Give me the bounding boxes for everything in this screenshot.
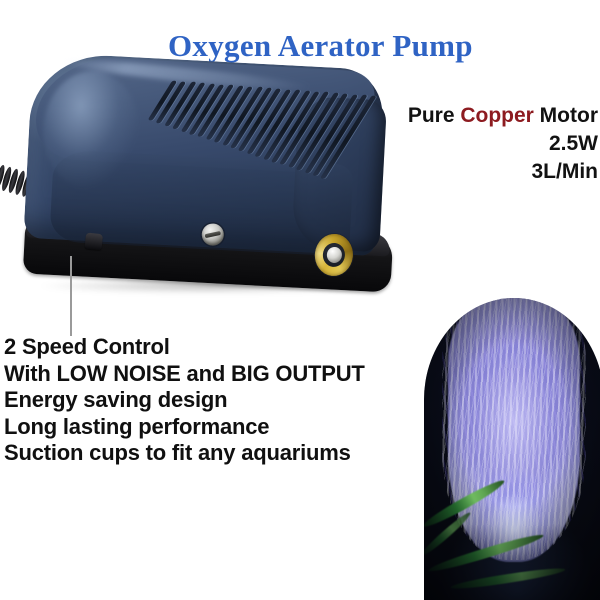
screw-slot <box>205 231 221 238</box>
callout-leader-line <box>70 256 72 336</box>
feature-item-1: 2 Speed Control <box>4 334 365 361</box>
spec-motor-suffix: Motor <box>534 104 598 127</box>
feature-item-5: Suction cups to fit any aquariums <box>4 440 365 467</box>
spec-power: 2.5W <box>338 130 598 158</box>
photo-vignette <box>424 298 600 600</box>
feature-list: 2 Speed Control With LOW NOISE and BIG O… <box>4 334 365 467</box>
speed-switch[interactable] <box>84 233 103 251</box>
spec-motor-line: Pure Copper Motor <box>338 102 598 130</box>
spec-flow-rate: 3L/Min <box>338 158 598 186</box>
feature-item-2: With LOW NOISE and BIG OUTPUT <box>4 361 365 388</box>
feature-item-3: Energy saving design <box>4 387 365 414</box>
pump-housing <box>23 52 384 256</box>
spec-motor-highlight: Copper <box>460 104 534 127</box>
aquarium-bubble-photo <box>424 298 600 600</box>
spec-motor-prefix: Pure <box>408 104 461 127</box>
air-outlet-nozzle <box>313 232 355 278</box>
spec-block: Pure Copper Motor 2.5W 3L/Min <box>338 102 598 186</box>
feature-item-4: Long lasting performance <box>4 414 365 441</box>
product-infographic: Oxygen Aerator Pump <box>0 0 600 600</box>
